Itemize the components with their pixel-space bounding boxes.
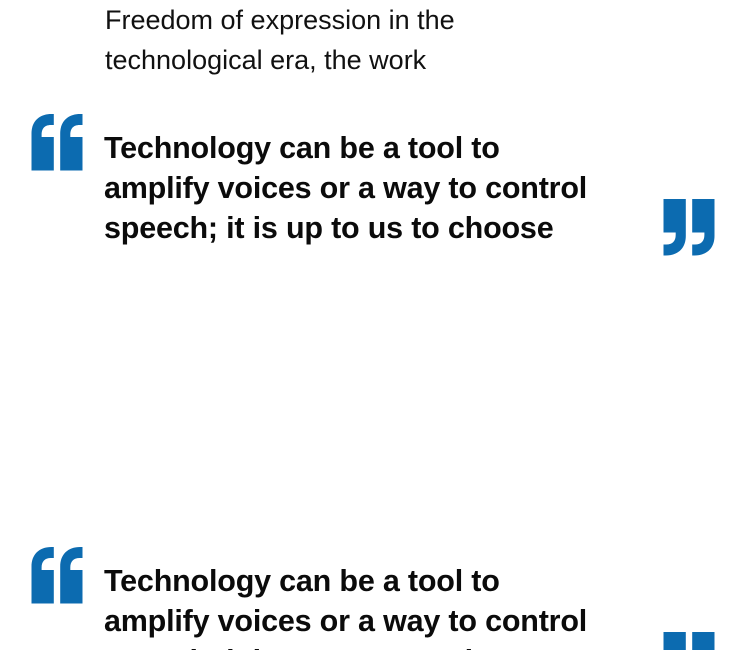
pullquote-bottom-line-1: Technology can be a tool to [104, 561, 704, 601]
quote-graphic-page: Technology can be a tool to amplify voic… [0, 0, 750, 650]
pullquote-bottom-text: Technology can be a tool to amplify voic… [104, 561, 704, 650]
pullquote-top-line-2: amplify voices or a way to control [104, 168, 664, 208]
pullquote-top-line-3: speech; it is up to us to choose [104, 208, 664, 248]
caption-line-2: technological era, the work [105, 40, 705, 55]
caption-text: Freedom of expression in the technologic… [105, 0, 705, 55]
caption-line-1: Freedom of expression in the [105, 0, 705, 40]
open-quote-icon [27, 113, 89, 173]
pullquote-top: Technology can be a tool to amplify voic… [0, 104, 750, 269]
pullquote-bottom: Technology can be a tool to amplify voic… [0, 537, 750, 650]
caption-block: Freedom of expression in the technologic… [0, 0, 750, 55]
pullquote-bottom-line-2: amplify voices or a way to control [104, 601, 704, 641]
close-quote-icon [659, 631, 721, 650]
pullquote-top-text: Technology can be a tool to amplify voic… [104, 128, 664, 248]
pullquote-bottom-line-3: speech; it is up to us to choose [104, 641, 704, 650]
close-quote-icon [659, 198, 721, 258]
open-quote-icon [27, 546, 89, 606]
pullquote-top-line-1: Technology can be a tool to [104, 128, 664, 168]
